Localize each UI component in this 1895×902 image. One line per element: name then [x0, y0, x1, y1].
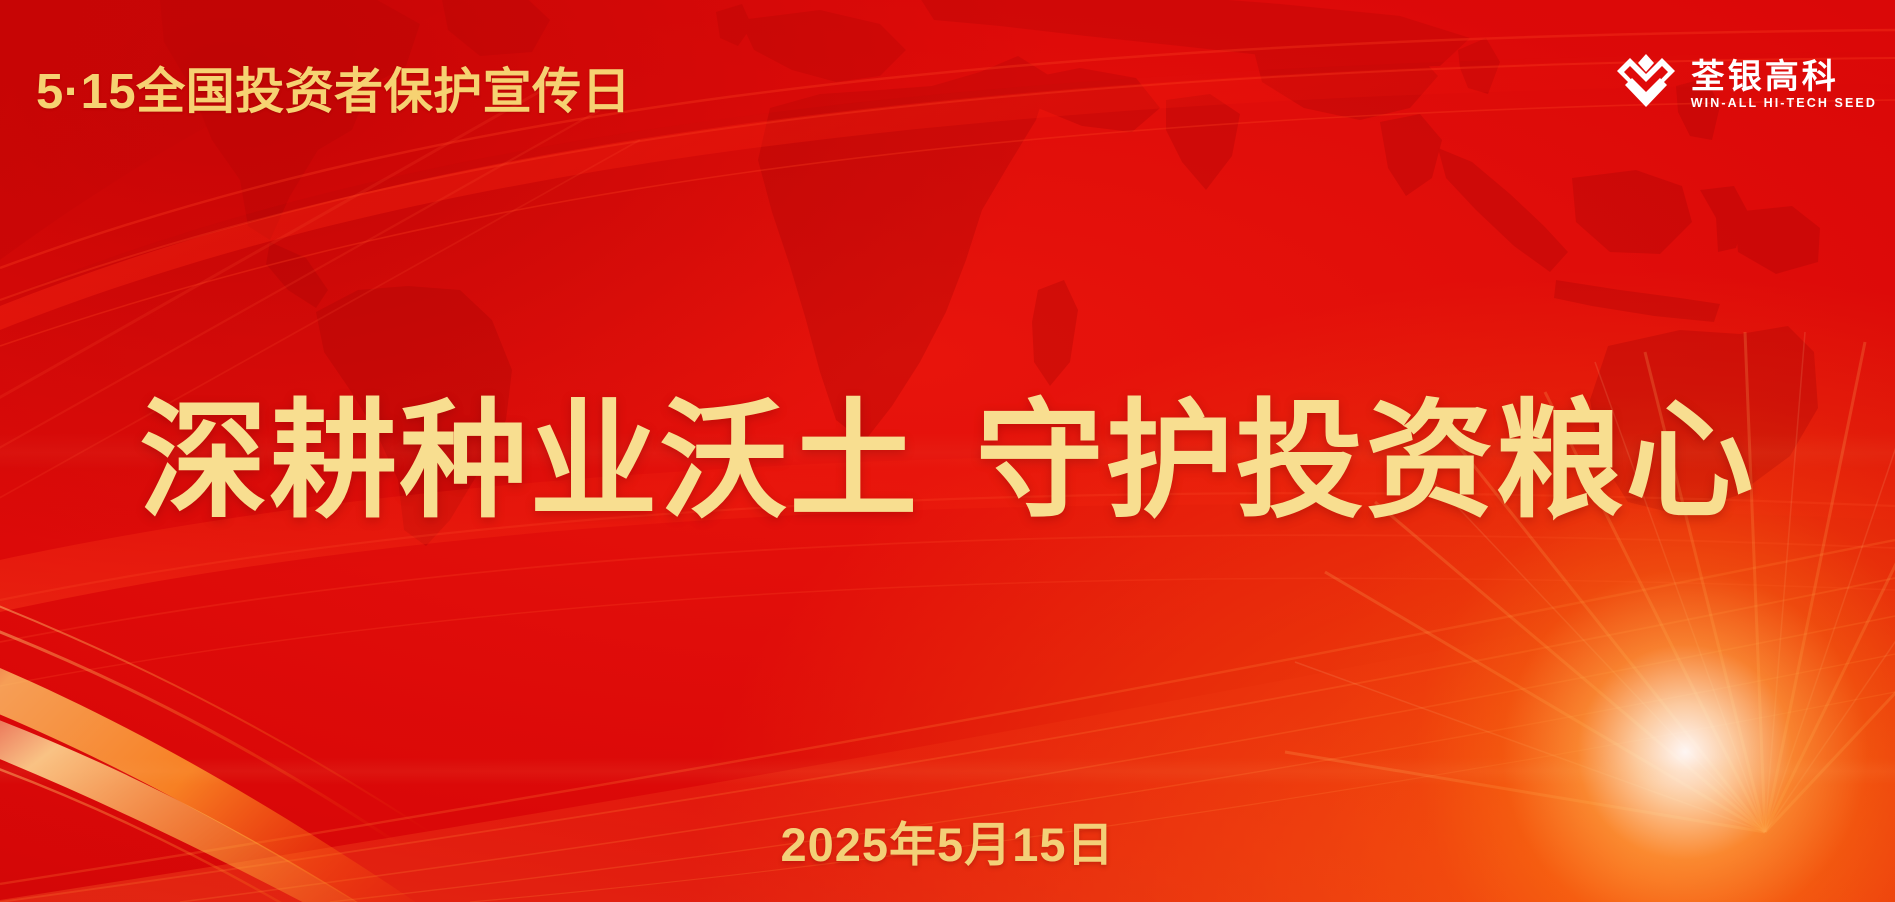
page-title: 深耕种业沃土守护投资粮心 [0, 398, 1895, 526]
logo-text-block: 荃银高科 WIN-ALL HI-TECH SEED [1691, 60, 1877, 110]
title-part-two: 守护投资粮心 [976, 390, 1756, 533]
event-headline: 5·15全国投资者保护宣传日 [36, 52, 631, 123]
title-part-one: 深耕种业沃土 [139, 390, 919, 533]
chevron-logo-icon [1615, 52, 1677, 118]
logo-company-name-en: WIN-ALL HI-TECH SEED [1691, 97, 1877, 110]
company-logo: 荃银高科 WIN-ALL HI-TECH SEED [1615, 52, 1877, 118]
event-date: 2025年5月15日 [0, 806, 1895, 875]
logo-company-name-cn: 荃银高科 [1691, 60, 1877, 94]
investor-protection-banner: 5·15全国投资者保护宣传日 荃银高科 WIN-ALL HI-TECH SEED… [0, 0, 1895, 902]
